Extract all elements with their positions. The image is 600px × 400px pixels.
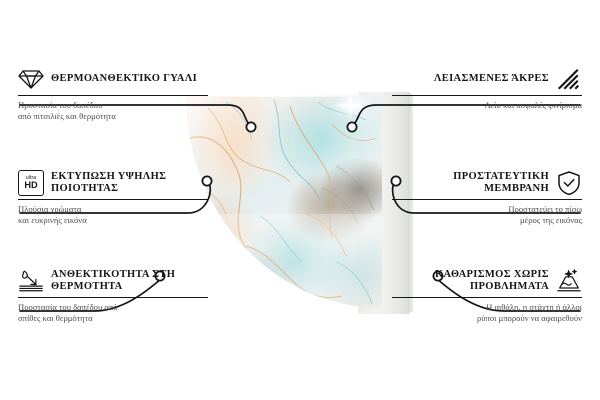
feature-divider [18, 95, 208, 96]
feature-heat-resistance[interactable]: ΑΝΘΕΚΤΙΚΟΤΗΤΑ ΣΤΗ ΘΕΡΜΟΤΗΤΑ Προστασία το… [18, 268, 208, 324]
feature-divider [392, 297, 582, 298]
heat-resistance-icon [18, 268, 44, 294]
feature-divider [392, 95, 582, 96]
feature-description: Η αιθάλη, η στάχτη ή άλλοιρύποι μπορούν … [392, 302, 582, 324]
feature-high-quality-print[interactable]: ultra HD ΕΚΤΥΠΩΣΗ ΥΨΗΛΗΣ ΠΟΙΟΤΗΤΑΣ Πλούσ… [18, 170, 208, 226]
hd-badge-bottom: HD [24, 181, 37, 190]
feature-polished-edges[interactable]: ΛΕΙΑΣΜΕΝΕΣ ΆΚΡΕΣ Λείο και ασφαλές φινίρι… [392, 66, 582, 111]
infographic-canvas: ΘΕΡΜΟΑΝΘΕΚΤΙΚΟ ΓΥΑΛΙ Προστασία του δαπέδ… [0, 0, 600, 400]
feature-title: ΠΡΟΣΤΑΤΕΥΤΙΚΗ ΜΕΜΒΡΑΝΗ [392, 171, 549, 196]
printed-glass-surface [186, 96, 382, 308]
feature-divider [392, 199, 582, 200]
feature-head: ΛΕΙΑΣΜΕΝΕΣ ΆΚΡΕΣ [392, 66, 582, 92]
feature-head: ΠΡΟΣΤΑΤΕΥΤΙΚΗ ΜΕΜΒΡΑΝΗ [392, 170, 582, 196]
feature-divider [18, 199, 208, 200]
feature-title: ΘΕΡΜΟΑΝΘΕΚΤΙΚΟ ΓΥΑΛΙ [51, 73, 197, 86]
feature-head: ultra HD ΕΚΤΥΠΩΣΗ ΥΨΗΛΗΣ ΠΟΙΟΤΗΤΑΣ [18, 170, 208, 196]
feature-description: Λείο και ασφαλές φινίρισμα [392, 100, 582, 111]
feature-title: ΑΝΘΕΚΤΙΚΟΤΗΤΑ ΣΤΗ ΘΕΡΜΟΤΗΤΑ [51, 269, 208, 294]
feature-head: ΑΝΘΕΚΤΙΚΟΤΗΤΑ ΣΤΗ ΘΕΡΜΟΤΗΤΑ [18, 268, 208, 294]
diamond-icon [18, 66, 44, 92]
shield-check-icon [556, 170, 582, 196]
feature-title: ΕΚΤΥΠΩΣΗ ΥΨΗΛΗΣ ΠΟΙΟΤΗΤΑΣ [51, 171, 208, 196]
easy-clean-icon [556, 268, 582, 294]
ultra-hd-icon: ultra HD [18, 170, 44, 196]
feature-heat-resistant-glass[interactable]: ΘΕΡΜΟΑΝΘΕΚΤΙΚΟ ΓΥΑΛΙ Προστασία του δαπέδ… [18, 66, 208, 122]
polished-edges-icon [556, 66, 582, 92]
glass-sheen [186, 96, 382, 308]
feature-description: Πλούσια χρώματακαι ευκρινής εικόνα [18, 204, 208, 226]
feature-description: Προστατεύει το πίσωμέρος της εικόνας [392, 204, 582, 226]
feature-title: ΛΕΙΑΣΜΕΝΕΣ ΆΚΡΕΣ [434, 73, 549, 86]
feature-easy-cleaning[interactable]: ΚΑΘΑΡΙΣΜΟΣ ΧΩΡΙΣ ΠΡΟΒΛΗΜΑΤΑ Η αιθάλη, η … [392, 268, 582, 324]
feature-head: ΚΑΘΑΡΙΣΜΟΣ ΧΩΡΙΣ ΠΡΟΒΛΗΜΑΤΑ [392, 268, 582, 294]
feature-divider [18, 297, 208, 298]
feature-title: ΚΑΘΑΡΙΣΜΟΣ ΧΩΡΙΣ ΠΡΟΒΛΗΜΑΤΑ [392, 269, 549, 294]
feature-description: Προστασία του δαπέδου απόσπίθες και θερμ… [18, 302, 208, 324]
feature-description: Προστασία του δαπέδουαπό πιτσιλιές και θ… [18, 100, 208, 122]
glass-glare-highlight [332, 94, 372, 118]
feature-protective-membrane[interactable]: ΠΡΟΣΤΑΤΕΥΤΙΚΗ ΜΕΜΒΡΑΝΗ Προστατεύει το πί… [392, 170, 582, 226]
feature-head: ΘΕΡΜΟΑΝΘΕΚΤΙΚΟ ΓΥΑΛΙ [18, 66, 208, 92]
product-image [176, 88, 420, 320]
